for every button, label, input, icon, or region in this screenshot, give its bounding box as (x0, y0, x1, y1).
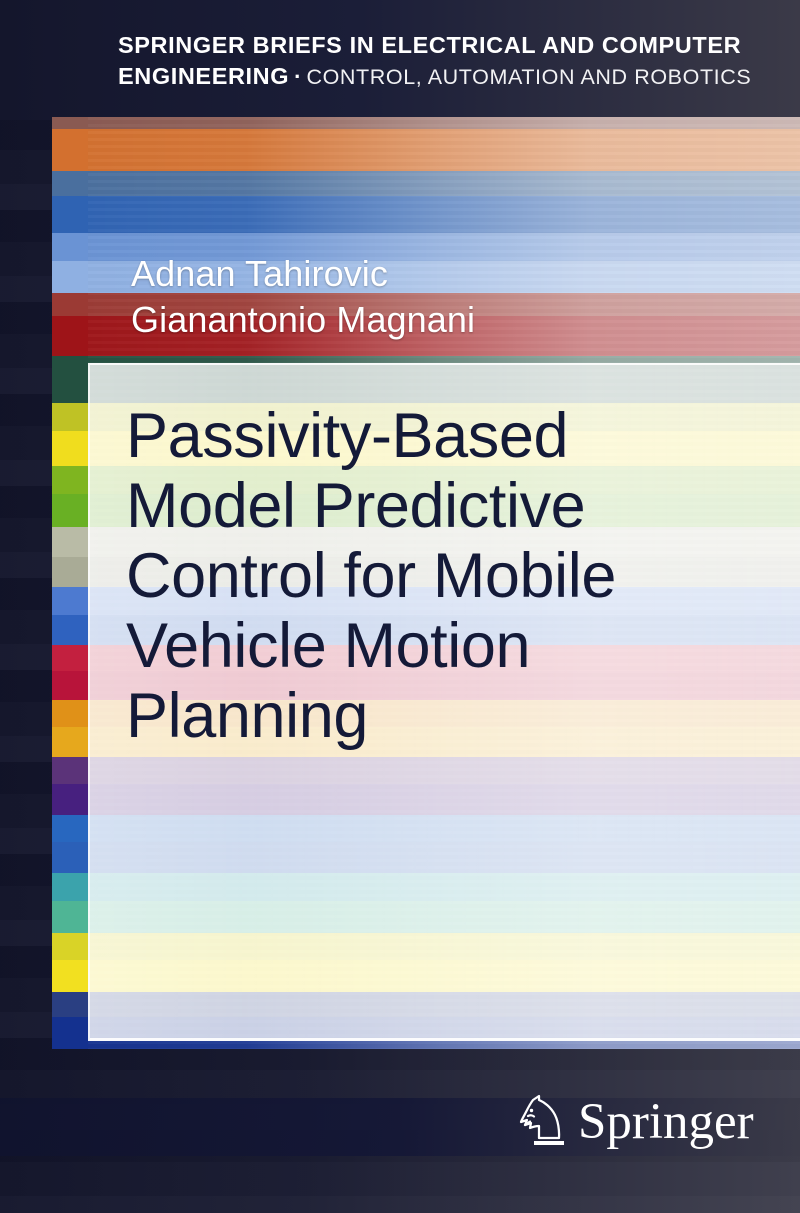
title-line-2: Model Predictive (126, 472, 766, 542)
series-subtitle: CONTROL, AUTOMATION AND ROBOTICS (306, 65, 751, 89)
left-bar-stripe (52, 171, 88, 197)
title-line-5: Planning (126, 682, 766, 752)
left-bar-stripe (52, 842, 88, 874)
left-bar-stripe (52, 992, 88, 1018)
left-bar-stripe (52, 261, 88, 294)
left-bar-stripe (52, 527, 88, 557)
left-bar-stripe (52, 1017, 88, 1049)
left-bar-stripe (52, 960, 88, 993)
left-bar-stripe (52, 784, 88, 816)
title-line-3: Control for Mobile (126, 542, 766, 612)
title-line-4: Vehicle Motion (126, 612, 766, 682)
artwork-stripe (52, 129, 800, 172)
authors-block: Adnan Tahirovic Gianantonio Magnani (131, 251, 691, 343)
left-color-bar (52, 117, 88, 1049)
springer-knight-icon (516, 1094, 566, 1150)
publisher-logo: Springer (516, 1094, 754, 1150)
left-bar-stripe (52, 815, 88, 844)
left-bar-stripe (52, 700, 88, 727)
artwork-stripe (52, 171, 800, 197)
left-bar-stripe (52, 933, 88, 960)
left-bar-stripe (52, 466, 88, 495)
left-bar-stripe (52, 757, 88, 784)
book-title: Passivity-Based Model Predictive Control… (126, 402, 766, 752)
left-bar-stripe (52, 645, 88, 672)
left-bar-stripe (52, 403, 88, 432)
series-title-part-2: ENGINEERING (118, 63, 289, 89)
left-bar-stripe (52, 615, 88, 645)
series-header: SPRINGER BRIEFS IN ELECTRICAL AND COMPUT… (118, 30, 778, 91)
left-bar-stripe (52, 129, 88, 172)
publisher-name: Springer (578, 1097, 754, 1148)
title-line-1: Passivity-Based (126, 402, 766, 472)
left-bar-stripe (52, 901, 88, 934)
series-title-part-1: SPRINGER BRIEFS IN ELECTRICAL AND COMPUT… (118, 32, 741, 58)
left-bar-stripe (52, 727, 88, 759)
left-bar-stripe (52, 196, 88, 234)
series-separator-dot: · (289, 64, 306, 89)
series-header-line-1: SPRINGER BRIEFS IN ELECTRICAL AND COMPUT… (118, 30, 778, 61)
left-bar-stripe (52, 873, 88, 902)
left-bar-stripe (52, 587, 88, 616)
book-cover: SPRINGER BRIEFS IN ELECTRICAL AND COMPUT… (0, 0, 800, 1213)
left-bar-stripe (52, 671, 88, 701)
left-bar-stripe (52, 557, 88, 589)
left-bar-stripe (52, 431, 88, 467)
left-bar-stripe (52, 356, 88, 404)
series-header-line-2: ENGINEERING·CONTROL, AUTOMATION AND ROBO… (118, 61, 778, 92)
left-bar-stripe (52, 494, 88, 529)
left-bar-stripe (52, 293, 88, 317)
artwork-stripe (52, 196, 800, 234)
left-bar-stripe (52, 316, 88, 357)
left-bar-stripe (52, 233, 88, 262)
author-name-2: Gianantonio Magnani (131, 297, 691, 343)
author-name-1: Adnan Tahirovic (131, 251, 691, 297)
